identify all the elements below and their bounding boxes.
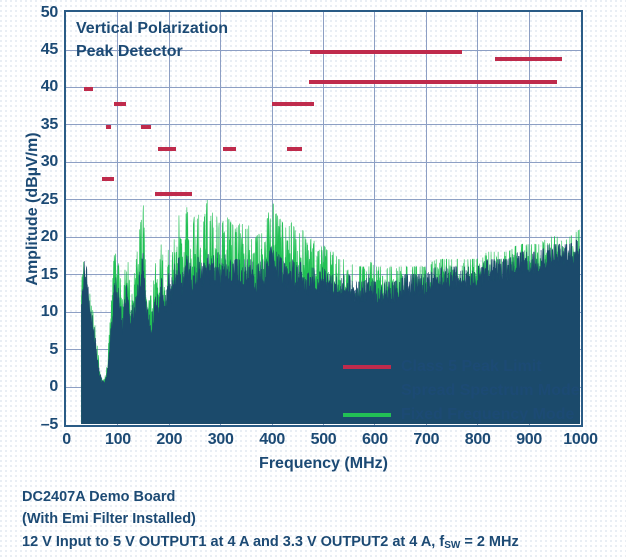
limit-segment <box>106 125 111 129</box>
x-axis-tick-labels: 01002003004005006007008009001000 <box>64 431 583 453</box>
x-axis-tick-label: 1000 <box>563 431 597 449</box>
x-axis-tick-label: 400 <box>259 431 285 449</box>
caption-line-2: (With Emi Filter Installed) <box>22 508 622 530</box>
legend-item: Spread Spectrum Mode <box>343 380 580 402</box>
limit-segment <box>84 87 93 91</box>
limit-segment <box>102 177 113 181</box>
limit-segment <box>155 192 192 196</box>
caption-line-3-a: 12 V Input to 5 V OUTPUT1 at 4 A and 3.3… <box>22 534 444 550</box>
chart-page: –505101520253035404550 Amplitude (dBµV/m… <box>0 0 626 559</box>
legend-label: Class 5 Peak Limit <box>401 358 542 376</box>
limit-segment <box>223 147 236 151</box>
legend-label: Spread Spectrum Mode <box>401 382 580 400</box>
caption-line-1: DC2407A Demo Board <box>22 486 622 508</box>
limit-segment <box>272 102 315 106</box>
limit-segment <box>141 125 151 129</box>
limit-segment <box>158 147 176 151</box>
y-axis-tick-label: 5 <box>6 341 58 359</box>
limit-segment <box>310 50 462 54</box>
legend-item: Fixed Frequency Mode <box>343 404 580 426</box>
y-axis-tick-label: 50 <box>6 4 58 22</box>
legend-swatch <box>343 389 391 393</box>
y-axis-tick-label: 45 <box>6 41 58 59</box>
legend-swatch <box>343 413 391 417</box>
y-axis-tick-label: –5 <box>6 416 58 434</box>
x-axis-tick-label: 800 <box>465 431 491 449</box>
plot-title: Vertical Polarization Peak Detector <box>76 17 228 63</box>
limit-segment <box>309 80 557 84</box>
legend-item: Class 5 Peak Limit <box>343 356 580 378</box>
x-axis-tick-label: 900 <box>516 431 542 449</box>
x-axis-tick-label: 500 <box>311 431 337 449</box>
caption-line-3-subscript: SW <box>444 540 460 551</box>
limit-segment <box>287 147 302 151</box>
caption-line-3-b: = 2 MHz <box>460 534 518 550</box>
x-axis-tick-label: 700 <box>413 431 439 449</box>
x-axis-tick-label: 100 <box>105 431 131 449</box>
caption: DC2407A Demo Board (With Emi Filter Inst… <box>22 486 622 553</box>
plot-area: Vertical Polarization Peak Detector Clas… <box>64 10 583 427</box>
legend-label: Fixed Frequency Mode <box>401 406 574 424</box>
limit-segment <box>114 102 126 106</box>
x-axis-tick-label: 200 <box>156 431 182 449</box>
limit-segment <box>495 57 562 61</box>
x-axis-tick-label: 600 <box>362 431 388 449</box>
y-axis-title: Amplitude (dBµV/m) <box>24 84 42 334</box>
y-axis-tick-label: 0 <box>6 378 58 396</box>
x-axis-title: Frequency (MHz) <box>64 455 583 473</box>
legend: Class 5 Peak LimitSpread Spectrum ModeFi… <box>343 356 580 426</box>
x-axis-tick-label: 0 <box>62 431 71 449</box>
caption-line-3: 12 V Input to 5 V OUTPUT1 at 4 A and 3.3… <box>22 531 622 553</box>
x-axis-tick-label: 300 <box>208 431 234 449</box>
legend-swatch <box>343 365 391 369</box>
